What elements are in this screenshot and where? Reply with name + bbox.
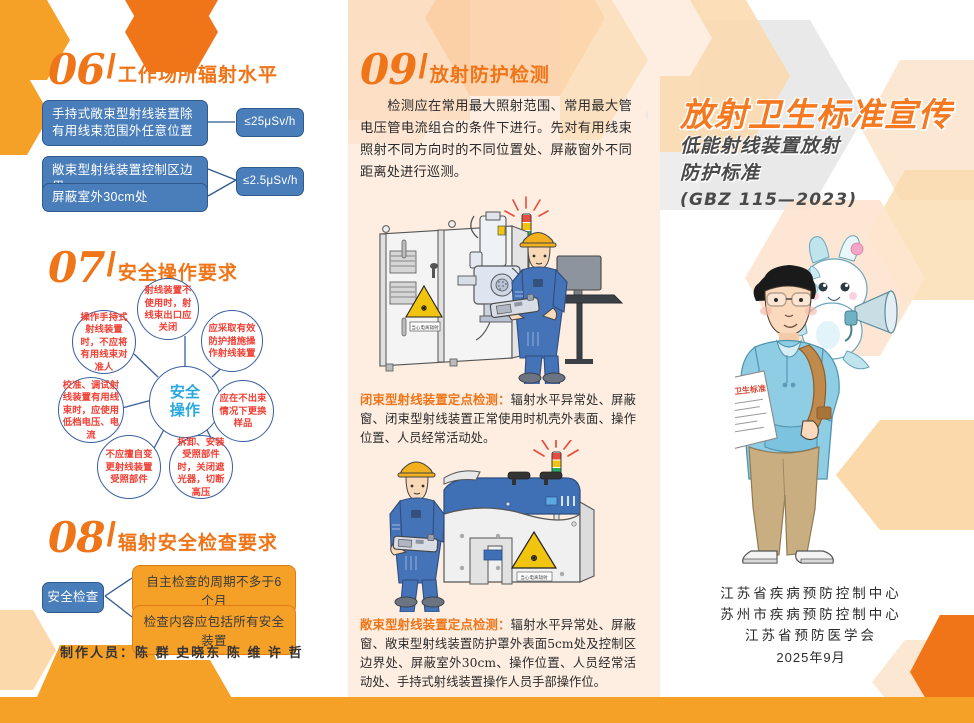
radiation-level-item-1-label: 手持式敞束型射线装置除有用线束范围外任意位置 <box>42 100 208 146</box>
section-06-slash: / <box>106 48 115 87</box>
mindmap-node-4: 拆卸、安装受照部件时，关闭遮光器，切断高压 <box>169 435 233 499</box>
svg-text:当心电离辐射: 当心电离辐射 <box>520 574 548 581</box>
standard-code: (GBZ 115—2023) <box>680 190 857 210</box>
section-09-title: 放射防护检测 <box>430 60 550 89</box>
footer-date: 2025年9月 <box>648 647 974 668</box>
section-09-heading: 09 / 放射防护检测 <box>360 50 550 89</box>
footer-org-3: 江苏省预防医学会 <box>648 625 974 646</box>
bottom-orange-bar <box>0 697 974 723</box>
caption-open-beam-title: 敞束型射线装置定点检测： <box>360 617 511 632</box>
open-beam-inspection-illustration: 当心电离辐射 <box>362 440 638 612</box>
mindmap-node-3: 应在不出束情况下更换样品 <box>212 380 274 442</box>
footer-organizations: 江苏省疾病预防控制中心 苏州市疾病预防控制中心 江苏省预防医学会 2025年9月 <box>648 583 974 668</box>
poster-subtitle: 低能射线装置放射 防护标准 <box>680 133 840 187</box>
safety-operation-mindmap: 安全 操作 射线装置不使用时，射线束出口应关闭 应采取有效防护措施操作射线装置 … <box>40 272 330 502</box>
mindmap-node-6: 校准、调试射线装置有用线束时，应使用低档电压、电流 <box>58 377 124 443</box>
caption-closed-beam-title: 闭束型射线装置定点检测： <box>360 392 511 407</box>
mindmap-node-5: 不应擅自变更射线装置受照部件 <box>97 435 161 499</box>
section-08-slash: / <box>106 516 115 555</box>
section-06-number: 06 <box>48 51 104 89</box>
credits-line: 制作人员：陈 群 史晓东 陈 维 许 哲 <box>60 642 304 661</box>
section-09-number: 09 <box>360 51 416 89</box>
poster-subtitle-line1: 低能射线装置放射 <box>680 136 840 157</box>
poster-main-title: 放射卫生标准宣传 <box>680 88 952 136</box>
section-09-slash: / <box>418 48 427 87</box>
svg-text:当心电离辐射: 当心电离辐射 <box>411 324 439 331</box>
section-09-body-text: 检测应在常用最大照射范围、常用最大管电压管电流组合的条件下进行。先对有用线束照射… <box>360 96 632 184</box>
section-06-heading: 06 / 工作场所辐射水平 <box>48 50 278 89</box>
section-08-number: 08 <box>48 519 104 557</box>
mindmap-center-node: 安全 操作 <box>149 366 221 438</box>
mindmap-node-2: 应采取有效防护措施操作射线装置 <box>201 310 263 372</box>
mascot-and-student-illustration: 放射卫生标准 <box>735 235 974 565</box>
radiation-level-item-3-label: 屏蔽室外30cm处 <box>42 183 208 212</box>
mindmap-center-line2: 操作 <box>170 402 200 419</box>
poster-root: 06 / 工作场所辐射水平 手持式敞束型射线装置除有用线束范围外任意位置 ≤25… <box>0 0 974 723</box>
footer-org-1: 江苏省疾病预防控制中心 <box>648 583 974 604</box>
mindmap-node-7: 操作手持式射线装置时，不应将有用线束对准人 <box>72 310 136 374</box>
radiation-level-item-2-value: ≤2.5μSv/h <box>236 167 304 196</box>
section-06-title: 工作场所辐射水平 <box>118 60 278 89</box>
radiation-level-item-1-value: ≤25μSv/h <box>236 108 304 137</box>
mindmap-center-line1: 安全 <box>170 384 200 401</box>
section-08-heading: 08 / 辐射安全检查要求 <box>48 518 278 557</box>
inspection-root-node: 安全检查 <box>42 582 104 613</box>
caption-open-beam: 敞束型射线装置定点检测：辐射水平异常处、屏蔽窗、敞束型射线装置防护罩外表面5cm… <box>360 615 636 692</box>
footer-org-2: 苏州市疾病预防控制中心 <box>648 604 974 625</box>
poster-subtitle-line2: 防护标准 <box>680 163 760 184</box>
closed-beam-inspection-illustration: 当心电离辐射 <box>362 196 638 384</box>
section-08-title: 辐射安全检查要求 <box>118 528 278 557</box>
mindmap-node-1: 射线装置不使用时，射线束出口应关闭 <box>137 278 199 340</box>
